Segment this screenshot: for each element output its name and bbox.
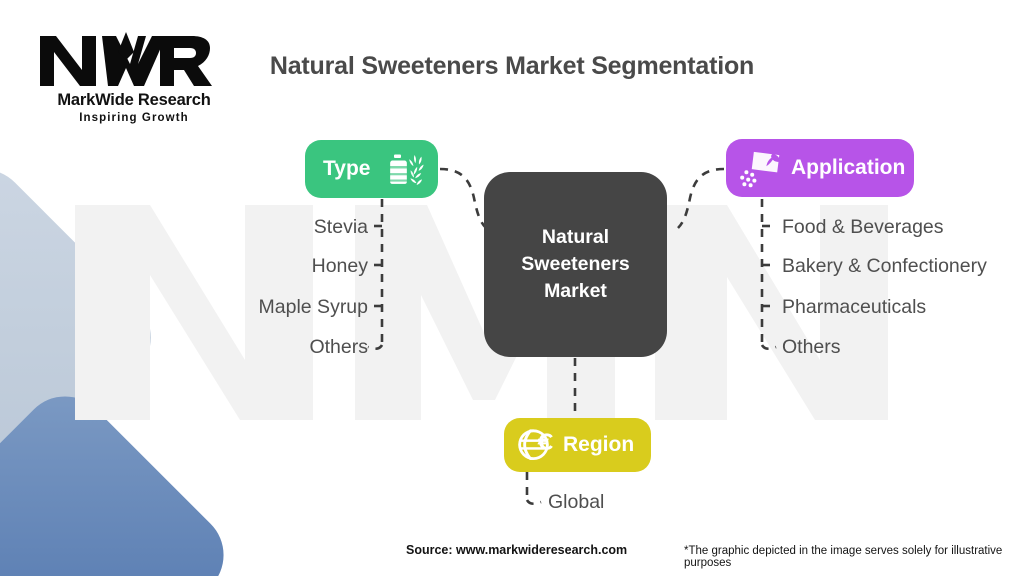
branch-pill-region[interactable]: Region <box>504 418 651 472</box>
globe-currency-icon <box>518 428 556 462</box>
wire-type-item-3 <box>368 345 382 349</box>
wire-type-to-center <box>440 169 486 228</box>
center-node-line-1: Natural <box>542 226 609 248</box>
type-item-0: Stevia <box>188 216 368 239</box>
infographic-canvas: MarkWide Research Inspiring Growth Natur… <box>0 0 1024 576</box>
sweetener-sachet-icon <box>739 148 783 188</box>
wire-application-to-center <box>678 169 724 228</box>
region-item-0: Global <box>548 491 604 514</box>
type-item-2: Maple Syrup <box>188 296 368 319</box>
page-title: Natural Sweeteners Market Segmentation <box>0 52 1024 81</box>
honey-jar-stevia-icon <box>390 154 424 185</box>
branch-pill-type[interactable]: Type <box>305 140 438 198</box>
application-item-3: Others <box>782 336 841 359</box>
brand-name: MarkWide Research <box>34 91 234 110</box>
center-node: Natural Sweeteners Market <box>484 172 667 357</box>
application-item-2: Pharmaceuticals <box>782 296 926 319</box>
center-node-line-2: Sweeteners <box>521 253 629 275</box>
wire-application-item-3 <box>762 345 776 349</box>
brand-tagline: Inspiring Growth <box>34 112 234 124</box>
type-item-3: Others <box>188 336 368 359</box>
application-item-0: Food & Beverages <box>782 216 944 239</box>
branch-pill-application[interactable]: Application <box>726 139 914 197</box>
disclaimer-note: *The graphic depicted in the image serve… <box>684 545 1024 569</box>
application-item-1: Bakery & Confectionery <box>782 255 987 278</box>
branch-label-application: Application <box>791 156 905 180</box>
branch-label-region: Region <box>563 433 634 457</box>
type-item-1: Honey <box>188 255 368 278</box>
center-node-line-3: Market <box>544 280 607 302</box>
decorative-square-dark <box>0 378 242 576</box>
source-label: Source: www.markwideresearch.com <box>406 543 627 557</box>
wire-region-item-0 <box>527 500 541 504</box>
branch-label-type: Type <box>323 157 370 181</box>
